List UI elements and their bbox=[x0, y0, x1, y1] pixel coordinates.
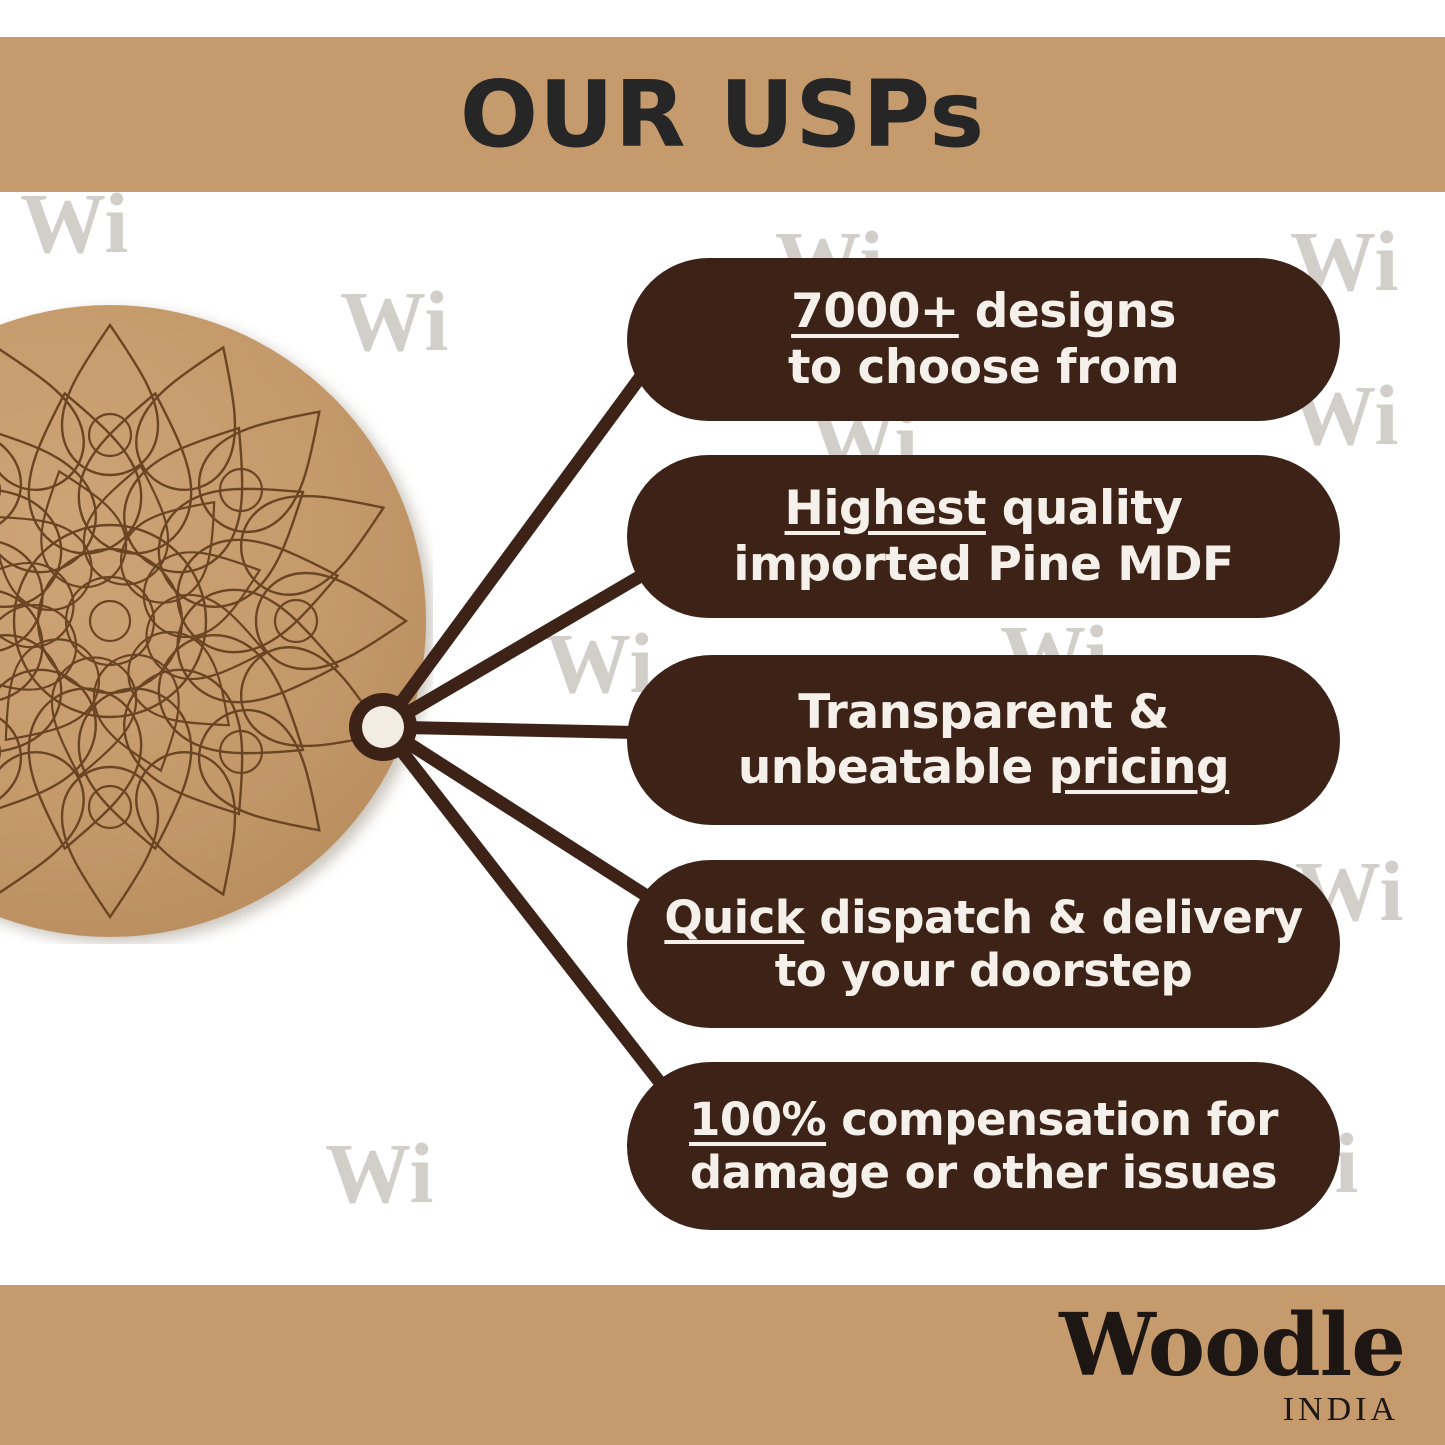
watermark-wi: Wi bbox=[325, 1130, 433, 1216]
brand-logo[interactable]: Woodle INDIA bbox=[1059, 1301, 1405, 1427]
usp-text-post: quality bbox=[986, 481, 1183, 536]
usp-text-emphasis: Quick bbox=[664, 891, 804, 944]
usp-text-pre: unbeatable bbox=[738, 740, 1049, 795]
usp-card-line-2: to your doorstep bbox=[775, 944, 1193, 997]
usp-text-emphasis: pricing bbox=[1049, 740, 1230, 795]
usp-card-line-2: to choose from bbox=[788, 340, 1179, 395]
usp-card-line-1: 100% compensation for bbox=[689, 1093, 1278, 1146]
usp-text-emphasis: 7000+ bbox=[791, 284, 959, 339]
usp-text-post: compensation for bbox=[826, 1093, 1278, 1146]
usp-card-line-2: unbeatable pricing bbox=[738, 740, 1229, 795]
usp-text-post: dispatch & delivery bbox=[804, 891, 1302, 944]
usp-infographic-canvas: WiWiWiWiWiWiWiWiWiWiWi bbox=[0, 0, 1445, 1445]
usp-card-quality[interactable]: Highest quality imported Pine MDF bbox=[627, 455, 1340, 618]
usp-card-dispatch[interactable]: Quick dispatch & delivery to your doorst… bbox=[627, 860, 1340, 1028]
page-title: OUR USPs bbox=[460, 69, 985, 161]
usp-text-pre: damage or other issues bbox=[690, 1146, 1277, 1199]
usp-card-designs[interactable]: 7000+ designs to choose from bbox=[627, 258, 1340, 421]
watermark-wi: Wi bbox=[20, 180, 128, 266]
footer-band: Woodle INDIA bbox=[0, 1285, 1445, 1445]
product-mandala-disc-image bbox=[0, 298, 433, 944]
usp-card-line-2: imported Pine MDF bbox=[733, 537, 1233, 592]
usp-text-pre: imported Pine MDF bbox=[733, 537, 1233, 592]
usp-card-line-2: damage or other issues bbox=[690, 1146, 1277, 1199]
header-band: OUR USPs bbox=[0, 37, 1445, 192]
brand-wordmark: Woodle bbox=[1059, 1301, 1405, 1391]
usp-text-pre: Transparent & bbox=[798, 685, 1168, 740]
usp-text-post: designs bbox=[959, 284, 1176, 339]
usp-text-pre: to your doorstep bbox=[775, 944, 1193, 997]
usp-card-line-1: Quick dispatch & delivery bbox=[664, 891, 1302, 944]
usp-card-line-1: 7000+ designs bbox=[791, 284, 1176, 339]
brand-subtitle: INDIA bbox=[1059, 1393, 1399, 1427]
usp-text-emphasis: Highest bbox=[785, 481, 986, 536]
watermark-wi: Wi bbox=[545, 620, 653, 706]
usp-card-line-1: Transparent & bbox=[798, 685, 1168, 740]
usp-text-emphasis: 100% bbox=[689, 1093, 826, 1146]
usp-text-pre: to choose from bbox=[788, 340, 1179, 395]
usp-card-compensation[interactable]: 100% compensation for damage or other is… bbox=[627, 1062, 1340, 1230]
usp-card-pricing[interactable]: Transparent & unbeatable pricing bbox=[627, 655, 1340, 825]
usp-card-line-1: Highest quality bbox=[785, 481, 1183, 536]
